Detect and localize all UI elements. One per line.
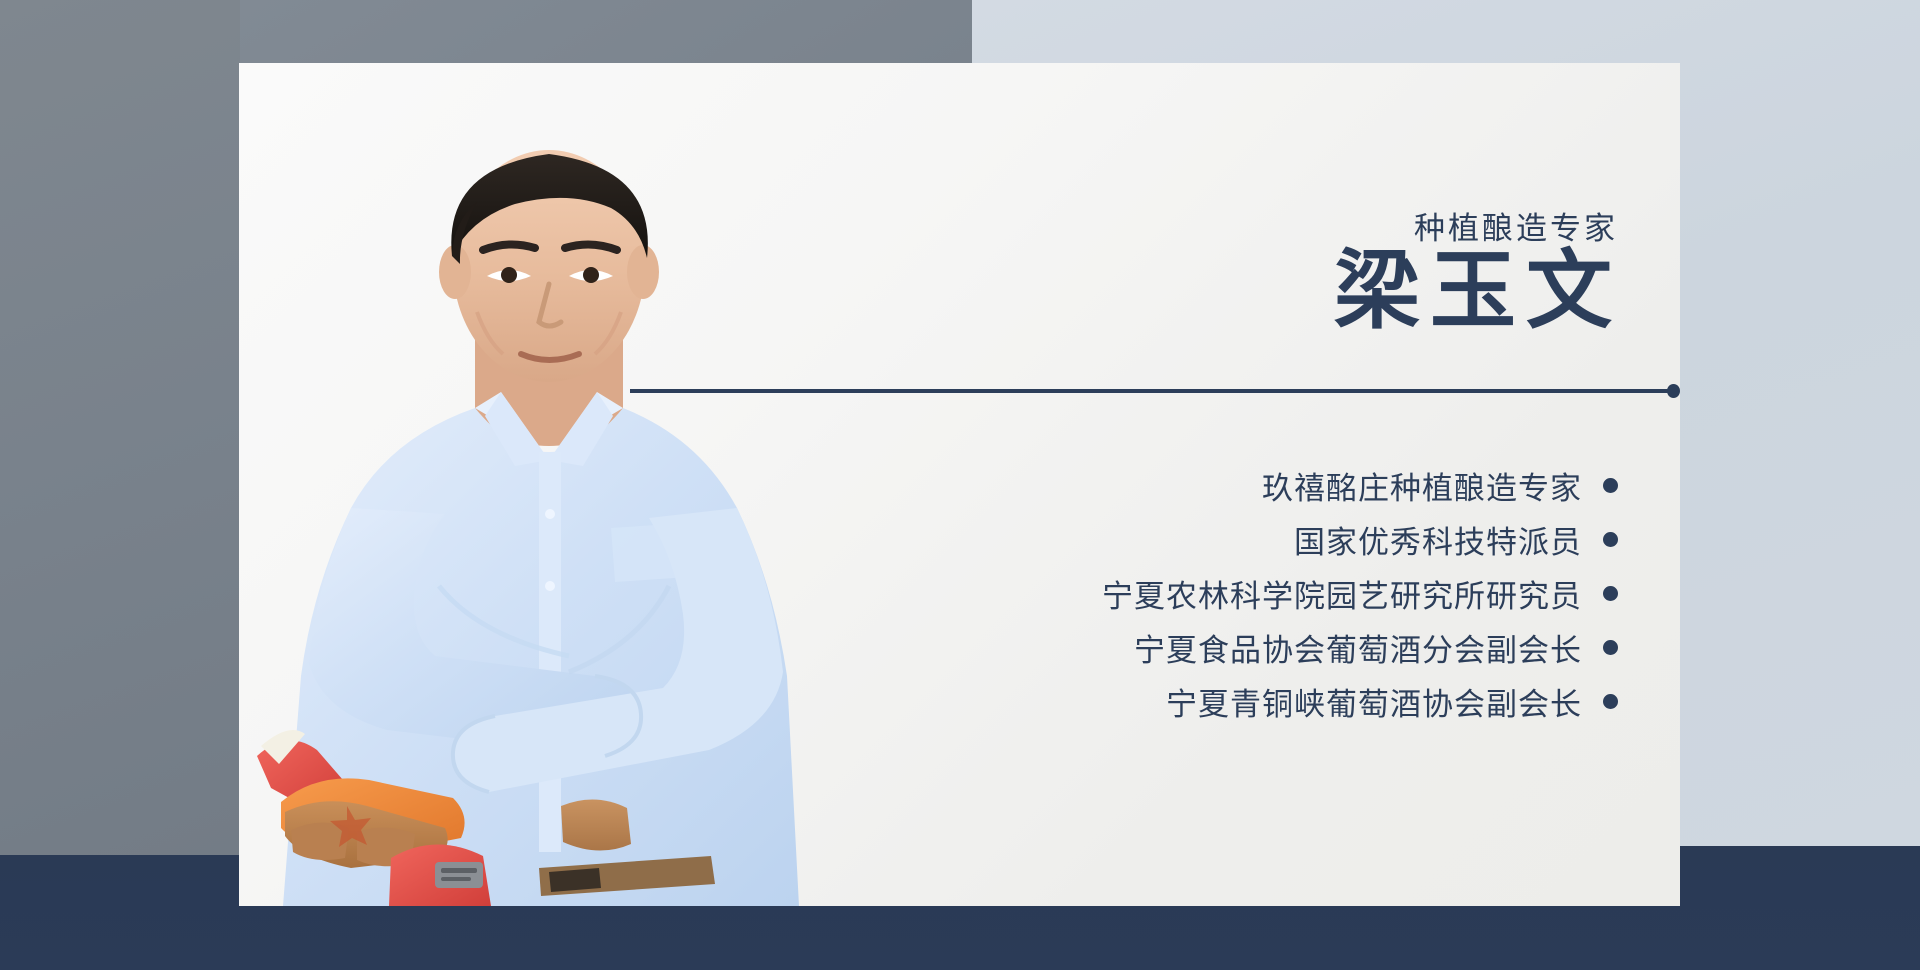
bullet-dot-icon <box>1603 478 1618 493</box>
profile-text-column: 种植酿造专家 梁玉文 玖禧酩庄种植酿造专家 国家优秀科技特派员 宁夏农林科学院园… <box>850 63 1680 906</box>
bullet-dot-icon <box>1603 532 1618 547</box>
divider-end-dot-icon <box>1667 384 1680 398</box>
bullet-dot-icon <box>1603 586 1618 601</box>
slide-canvas: 种植酿造专家 梁玉文 玖禧酩庄种植酿造专家 国家优秀科技特派员 宁夏农林科学院园… <box>0 0 1920 970</box>
bullet-dot-icon <box>1603 694 1618 709</box>
list-item: 玖禧酩庄种植酿造专家 <box>858 458 1618 512</box>
background-gray-top-strip <box>240 0 972 63</box>
section-divider <box>630 384 1680 398</box>
profile-name: 梁玉文 <box>1334 245 1622 338</box>
credential-label: 国家优秀科技特派员 <box>1294 517 1582 562</box>
background-gray-left-column <box>0 0 240 858</box>
divider-line <box>630 389 1670 393</box>
credentials-list: 玖禧酩庄种植酿造专家 国家优秀科技特派员 宁夏农林科学院园艺研究所研究员 宁夏食… <box>858 458 1618 728</box>
bullet-dot-icon <box>1603 640 1618 655</box>
profile-card: 种植酿造专家 梁玉文 玖禧酩庄种植酿造专家 国家优秀科技特派员 宁夏农林科学院园… <box>239 63 1680 906</box>
list-item: 宁夏农林科学院园艺研究所研究员 <box>858 566 1618 620</box>
credential-label: 宁夏食品协会葡萄酒分会副会长 <box>1134 625 1582 670</box>
credential-label: 宁夏青铜峡葡萄酒协会副会长 <box>1166 679 1582 724</box>
background-navy-baseline <box>0 962 1920 970</box>
list-item: 宁夏食品协会葡萄酒分会副会长 <box>858 620 1618 674</box>
list-item: 宁夏青铜峡葡萄酒协会副会长 <box>858 674 1618 728</box>
credential-label: 宁夏农林科学院园艺研究所研究员 <box>1102 571 1582 616</box>
profile-eyebrow: 种植酿造专家 <box>1414 203 1618 248</box>
portrait-photo <box>239 116 859 906</box>
list-item: 国家优秀科技特派员 <box>858 512 1618 566</box>
credential-label: 玖禧酩庄种植酿造专家 <box>1262 463 1582 508</box>
